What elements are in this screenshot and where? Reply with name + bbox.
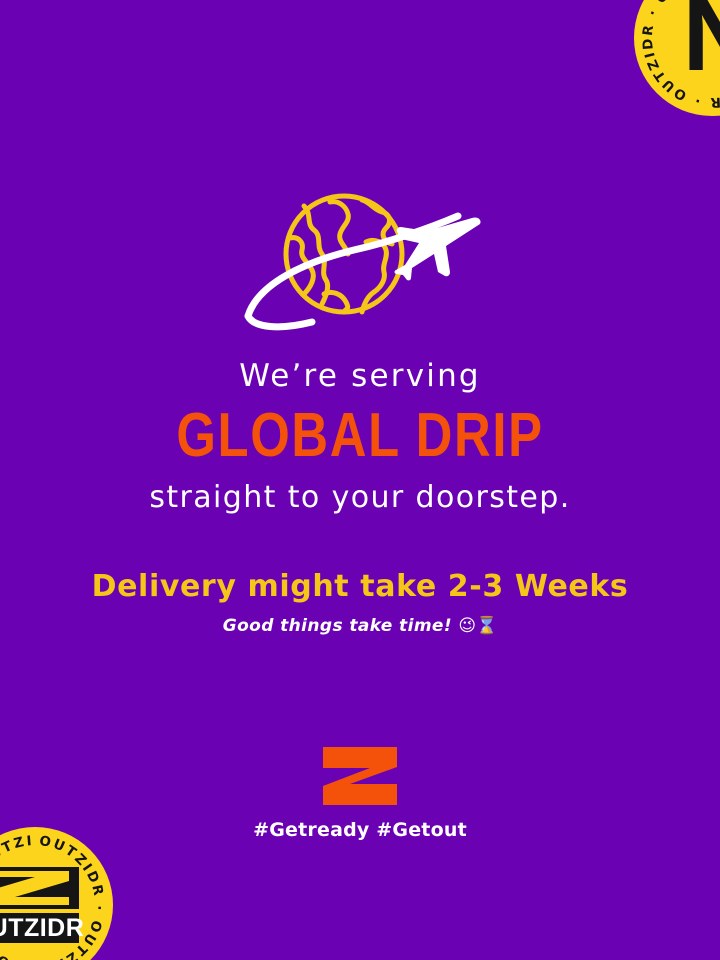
tagline-label: Good things take time! bbox=[223, 616, 452, 636]
svg-text:N: N bbox=[682, 0, 720, 93]
svg-text:OUTZIDR: OUTZIDR bbox=[0, 914, 84, 942]
wink-hourglass-emoji: 😉⌛ bbox=[458, 616, 497, 636]
outzidr-z-monogram bbox=[320, 745, 400, 807]
subhead-text: straight to your doorstep. bbox=[0, 481, 720, 514]
poster-copy: We’re serving GLOBAL DRIP straight to yo… bbox=[0, 360, 720, 636]
page-title: GLOBAL DRIP bbox=[65, 401, 655, 470]
tagline-text: Good things take time! 😉⌛ bbox=[0, 617, 720, 636]
globe-with-airplane-illustration bbox=[234, 176, 486, 344]
outzidr-badge-top-right: OUTZIDR · OUTZIDR · OUTZIDR · OUTZIDR · … bbox=[634, 0, 720, 116]
promo-poster: We’re serving GLOBAL DRIP straight to yo… bbox=[0, 0, 720, 960]
outzidr-badge-bottom-left: OUTZIDR · OUTZIDR · OUTZIDR · OUTZIDR · … bbox=[0, 827, 113, 960]
eyebrow-text: We’re serving bbox=[0, 360, 720, 393]
delivery-notice-text: Delivery might take 2-3 Weeks bbox=[0, 570, 720, 603]
